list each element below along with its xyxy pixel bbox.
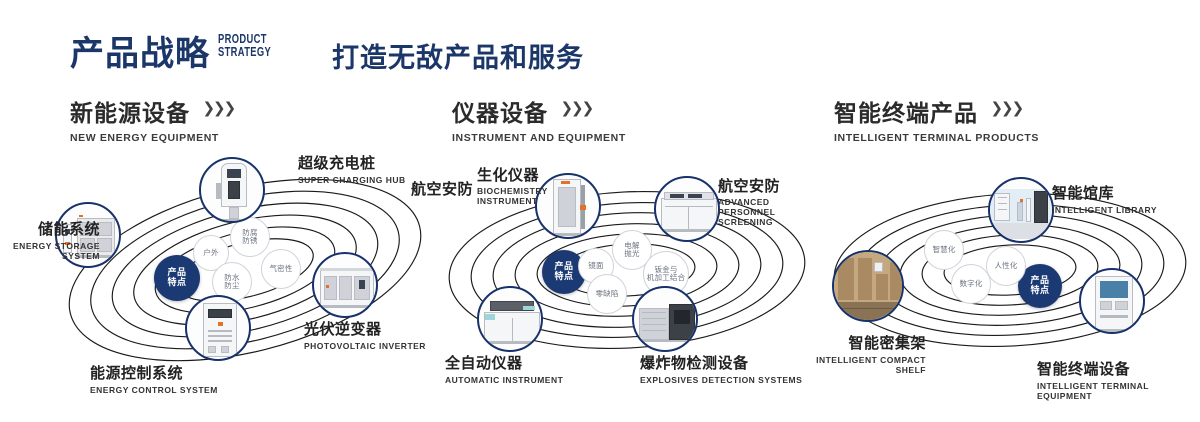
control-cabinet-icon <box>187 297 249 359</box>
core-badge-line2: 特点 <box>167 278 186 288</box>
feature-bubble-label: 钣金与 机加工结合 <box>647 266 686 282</box>
feature-bubble-anti-corrosion: 防腐 防锈 <box>230 217 270 257</box>
feature-bubble-label: 零缺陷 <box>595 290 618 298</box>
feature-bubble-line2: 防尘 <box>224 282 239 290</box>
core-badge-product-features: 产品 特点 <box>154 255 200 301</box>
screening-machine-icon <box>656 178 718 240</box>
feature-bubble-zero-defect: 零缺陷 <box>587 274 627 314</box>
feature-bubble-label: 电解 抛光 <box>624 242 639 258</box>
feature-bubble-label: 防水 防尘 <box>224 274 239 290</box>
caption-biochemistry-instrument: 生化仪器 BIOCHEMISTRY INSTRUMENT <box>477 164 559 207</box>
feature-bubble-digitalized: 数字化 <box>951 264 991 304</box>
caption-en: EXPLOSIVES DETECTION SYSTEMS <box>640 375 802 385</box>
caption-cn: 航空安防 <box>718 175 810 196</box>
caption-energy-storage-system: 储能系统 ENERGY STORAGE SYSTEM <box>0 218 100 261</box>
caption-en: INTELLIGENT TERMINAL EQUIPMENT <box>1037 381 1200 401</box>
feature-bubble-label: 人性化 <box>994 262 1017 270</box>
caption-energy-control-system: 能源控制系统 ENERGY CONTROL SYSTEM <box>90 362 218 395</box>
product-circle-automatic-instrument[interactable] <box>477 286 543 352</box>
caption-advanced-personnel-screening: 航空安防 ADVANCED PERSONNEL SCREENING <box>718 175 810 227</box>
caption-en: AUTOMATIC INSTRUMENT <box>445 375 563 385</box>
caption-en: SUPER CHARGING HUB <box>298 175 406 185</box>
chevron-right-triple-icon: ❯❯❯ <box>990 99 1022 117</box>
page-header: 产品战略 PRODUCT STRATEGY 打造无敌产品和服务 <box>0 0 1200 88</box>
feature-bubble-intelligent: 智慧化 <box>924 230 964 270</box>
feature-bubble-airtightness: 气密性 <box>261 249 301 289</box>
charging-pile-icon <box>201 159 263 221</box>
caption-explosives-detection-systems: 爆炸物检测设备 EXPLOSIVES DETECTION SYSTEMS <box>640 352 802 385</box>
feature-bubble-label: 气密性 <box>269 265 292 273</box>
caption-cn: 超级充电桩 <box>298 152 406 173</box>
feature-bubble-line2: 抛光 <box>624 250 639 258</box>
caption-en: ENERGY CONTROL SYSTEM <box>90 385 218 395</box>
product-circle-intelligent-terminal-equipment[interactable] <box>1079 268 1145 334</box>
product-circle-super-charging-hub[interactable] <box>199 157 265 223</box>
caption-cn: 全自动仪器 <box>445 352 563 373</box>
caption-cn: 航空安防 <box>411 178 473 199</box>
chevron-right-triple-icon: ❯❯❯ <box>560 99 592 117</box>
caption-intelligent-compact-shelf: 智能密集架 INTELLIGENT COMPACT SHELF <box>798 332 926 375</box>
section-title-cn: 智能终端产品 <box>834 94 978 128</box>
feature-bubble-label: 镜面 <box>588 262 603 270</box>
explosives-detector-icon <box>634 288 696 350</box>
section-title-en: INTELLIGENT TERMINAL PRODUCTS <box>834 132 1039 144</box>
caption-cn: 生化仪器 <box>477 164 559 185</box>
feature-bubble-line2: 防锈 <box>242 237 257 245</box>
core-badge-line2: 特点 <box>1030 286 1049 296</box>
caption-cn: 智能密集架 <box>798 332 926 353</box>
feature-bubble-label: 数字化 <box>959 280 982 288</box>
page-title-english-line2: STRATEGY <box>218 45 271 58</box>
product-circle-intelligent-compact-shelf[interactable] <box>832 250 904 322</box>
caption-cn: 光伏逆变器 <box>304 318 426 339</box>
caption-intelligent-terminal-equipment: 智能终端设备 INTELLIGENT TERMINAL EQUIPMENT <box>1037 358 1200 401</box>
pv-inverter-icon <box>314 254 376 316</box>
product-circle-intelligent-library[interactable] <box>988 177 1054 243</box>
section-heading-new-energy: 新能源设备 ❯❯❯ NEW ENERGY EQUIPMENT <box>70 94 234 144</box>
caption-cn: 智能终端设备 <box>1037 358 1200 379</box>
product-circle-advanced-personnel-screening[interactable] <box>654 176 720 242</box>
caption-cn: 储能系统 <box>0 218 100 239</box>
feature-bubble-label: 户外 <box>203 249 218 257</box>
section-title-cn: 仪器设备 <box>452 94 548 128</box>
section-heading-intelligent-terminal: 智能终端产品 ❯❯❯ INTELLIGENT TERMINAL PRODUCTS <box>834 94 1039 144</box>
caption-en: ENERGY STORAGE SYSTEM <box>0 241 100 261</box>
feature-bubble-humanized: 人性化 <box>986 246 1026 286</box>
terminal-kiosk-icon <box>1081 270 1143 332</box>
caption-cn: 智能馆库 <box>1052 182 1157 203</box>
feature-bubble-label: 防腐 防锈 <box>242 229 257 245</box>
section-title-cn: 新能源设备 <box>70 94 190 128</box>
core-badge-line2: 特点 <box>554 272 573 282</box>
feature-bubble-label: 智慧化 <box>932 246 955 254</box>
section-title-en: NEW ENERGY EQUIPMENT <box>70 132 234 144</box>
section-title-en: INSTRUMENT AND EQUIPMENT <box>452 132 626 144</box>
product-circle-energy-control-system[interactable] <box>185 295 251 361</box>
caption-en: INTELLIGENT LIBRARY <box>1052 205 1157 215</box>
caption-en: ADVANCED PERSONNEL SCREENING <box>718 198 810 227</box>
product-strategy-infographic: 产品战略 PRODUCT STRATEGY 打造无敌产品和服务 新能源设备 ❯❯… <box>0 0 1200 422</box>
caption-en: INTELLIGENT COMPACT SHELF <box>798 355 926 375</box>
caption-cn: 能源控制系统 <box>90 362 218 383</box>
smart-library-icon <box>990 179 1052 241</box>
caption-en: BIOCHEMISTRY INSTRUMENT <box>477 187 559 207</box>
chevron-right-triple-icon: ❯❯❯ <box>202 99 234 117</box>
caption-en: PHOTOVOLTAIC INVERTER <box>304 341 426 351</box>
caption-aviation-security-left: 航空安防 <box>411 178 473 199</box>
caption-super-charging-hub: 超级充电桩 SUPER CHARGING HUB <box>298 152 406 185</box>
product-circle-photovoltaic-inverter[interactable] <box>312 252 378 318</box>
caption-intelligent-library: 智能馆库 INTELLIGENT LIBRARY <box>1052 182 1157 215</box>
caption-cn: 爆炸物检测设备 <box>640 352 802 373</box>
product-circle-explosives-detection-systems[interactable] <box>632 286 698 352</box>
caption-photovoltaic-inverter: 光伏逆变器 PHOTOVOLTAIC INVERTER <box>304 318 426 351</box>
feature-bubble-line2: 机加工结合 <box>647 274 686 282</box>
page-title: 产品战略 <box>70 26 210 75</box>
section-heading-instrument: 仪器设备 ❯❯❯ INSTRUMENT AND EQUIPMENT <box>452 94 626 144</box>
page-title-english: PRODUCT STRATEGY <box>218 32 271 58</box>
caption-automatic-instrument: 全自动仪器 AUTOMATIC INSTRUMENT <box>445 352 563 385</box>
automatic-analyzer-icon <box>479 288 541 350</box>
page-subtitle: 打造无敌产品和服务 <box>332 36 584 75</box>
compact-shelf-icon <box>834 252 902 320</box>
